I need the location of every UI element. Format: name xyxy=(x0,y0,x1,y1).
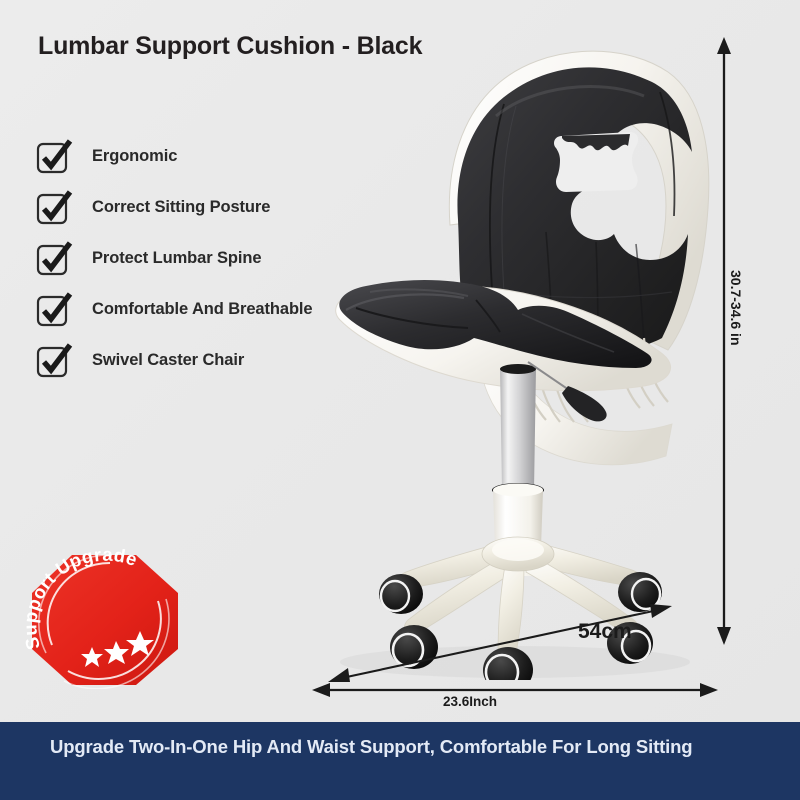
footer-banner: Upgrade Two-In-One Hip And Waist Support… xyxy=(0,722,800,800)
feature-label: Swivel Caster Chair xyxy=(92,351,244,370)
dimension-label-base-diameter: 54cm xyxy=(578,620,632,644)
checkbox-check-icon xyxy=(34,292,74,328)
product-infographic: Lumbar Support Cushion - Black Ergonomic… xyxy=(0,0,800,800)
footer-text: Upgrade Two-In-One Hip And Waist Support… xyxy=(50,735,770,760)
dimension-label-width: 23.6Inch xyxy=(0,694,800,709)
feature-label: Protect Lumbar Spine xyxy=(92,249,261,268)
dimension-label-height: 30.7-34.6 in xyxy=(728,270,744,346)
feature-label: Comfortable And Breathable xyxy=(92,300,312,319)
support-upgrade-badge: Support Upgrade xyxy=(24,549,184,689)
checkbox-check-icon xyxy=(34,190,74,226)
checkbox-check-icon xyxy=(34,139,74,175)
checkbox-check-icon xyxy=(34,241,74,277)
office-chair-illustration xyxy=(300,20,730,680)
feature-label: Ergonomic xyxy=(92,147,177,166)
feature-label: Correct Sitting Posture xyxy=(92,198,270,217)
checkbox-check-icon xyxy=(34,343,74,379)
